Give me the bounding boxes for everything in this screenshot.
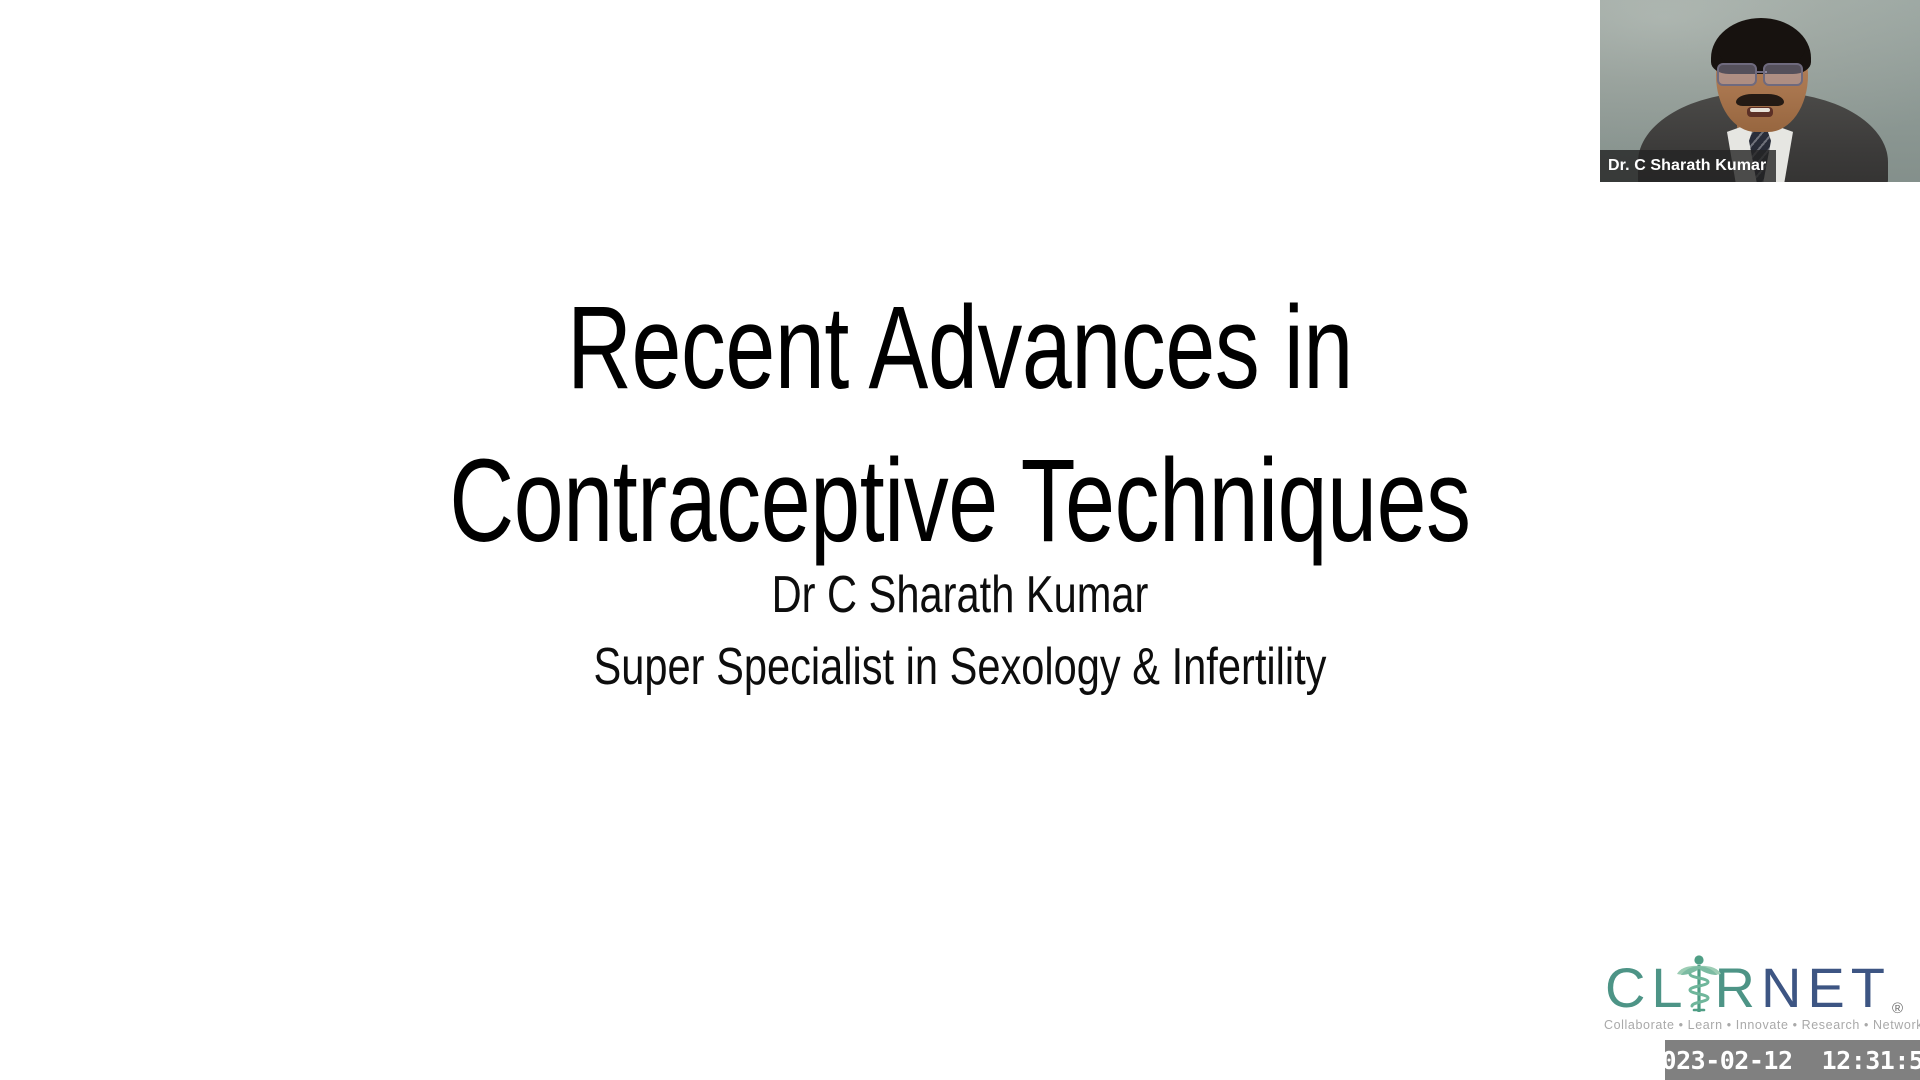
- wordmark-net: NET: [1761, 960, 1891, 1016]
- webcam-participant-name-label: Dr. C Sharath Kumar: [1600, 150, 1776, 182]
- slide-title: Recent Advances in Contraceptive Techniq…: [352, 272, 1568, 579]
- presenter-mouth: [1747, 107, 1773, 117]
- presenter-eyeglasses: [1711, 63, 1809, 83]
- presenter-credentials: Super Specialist in Sexology & Infertili…: [400, 637, 1520, 697]
- registered-trademark-icon: ®: [1892, 1001, 1903, 1016]
- presentation-stage: Recent Advances in Contraceptive Techniq…: [0, 0, 1920, 1080]
- webcam-video-tile[interactable]: Dr. C Sharath Kumar: [1600, 0, 1920, 182]
- eyeglass-lens-right: [1763, 63, 1803, 86]
- clirnet-tagline: Collaborate • Learn • Innovate • Researc…: [1604, 1018, 1904, 1032]
- clirnet-logo: CL I R NET ® Collaborate • Learn • Innov…: [1604, 952, 1904, 1038]
- eyeglass-lens-left: [1717, 63, 1757, 86]
- presenter-name: Dr C Sharath Kumar: [400, 565, 1520, 625]
- clirnet-wordmark: CL I R NET ®: [1604, 952, 1904, 1016]
- recording-timestamp: 2023-02-12 12:31:53: [1665, 1040, 1920, 1080]
- caduceus-icon: [1676, 954, 1722, 1016]
- presenter-moustache: [1736, 94, 1784, 106]
